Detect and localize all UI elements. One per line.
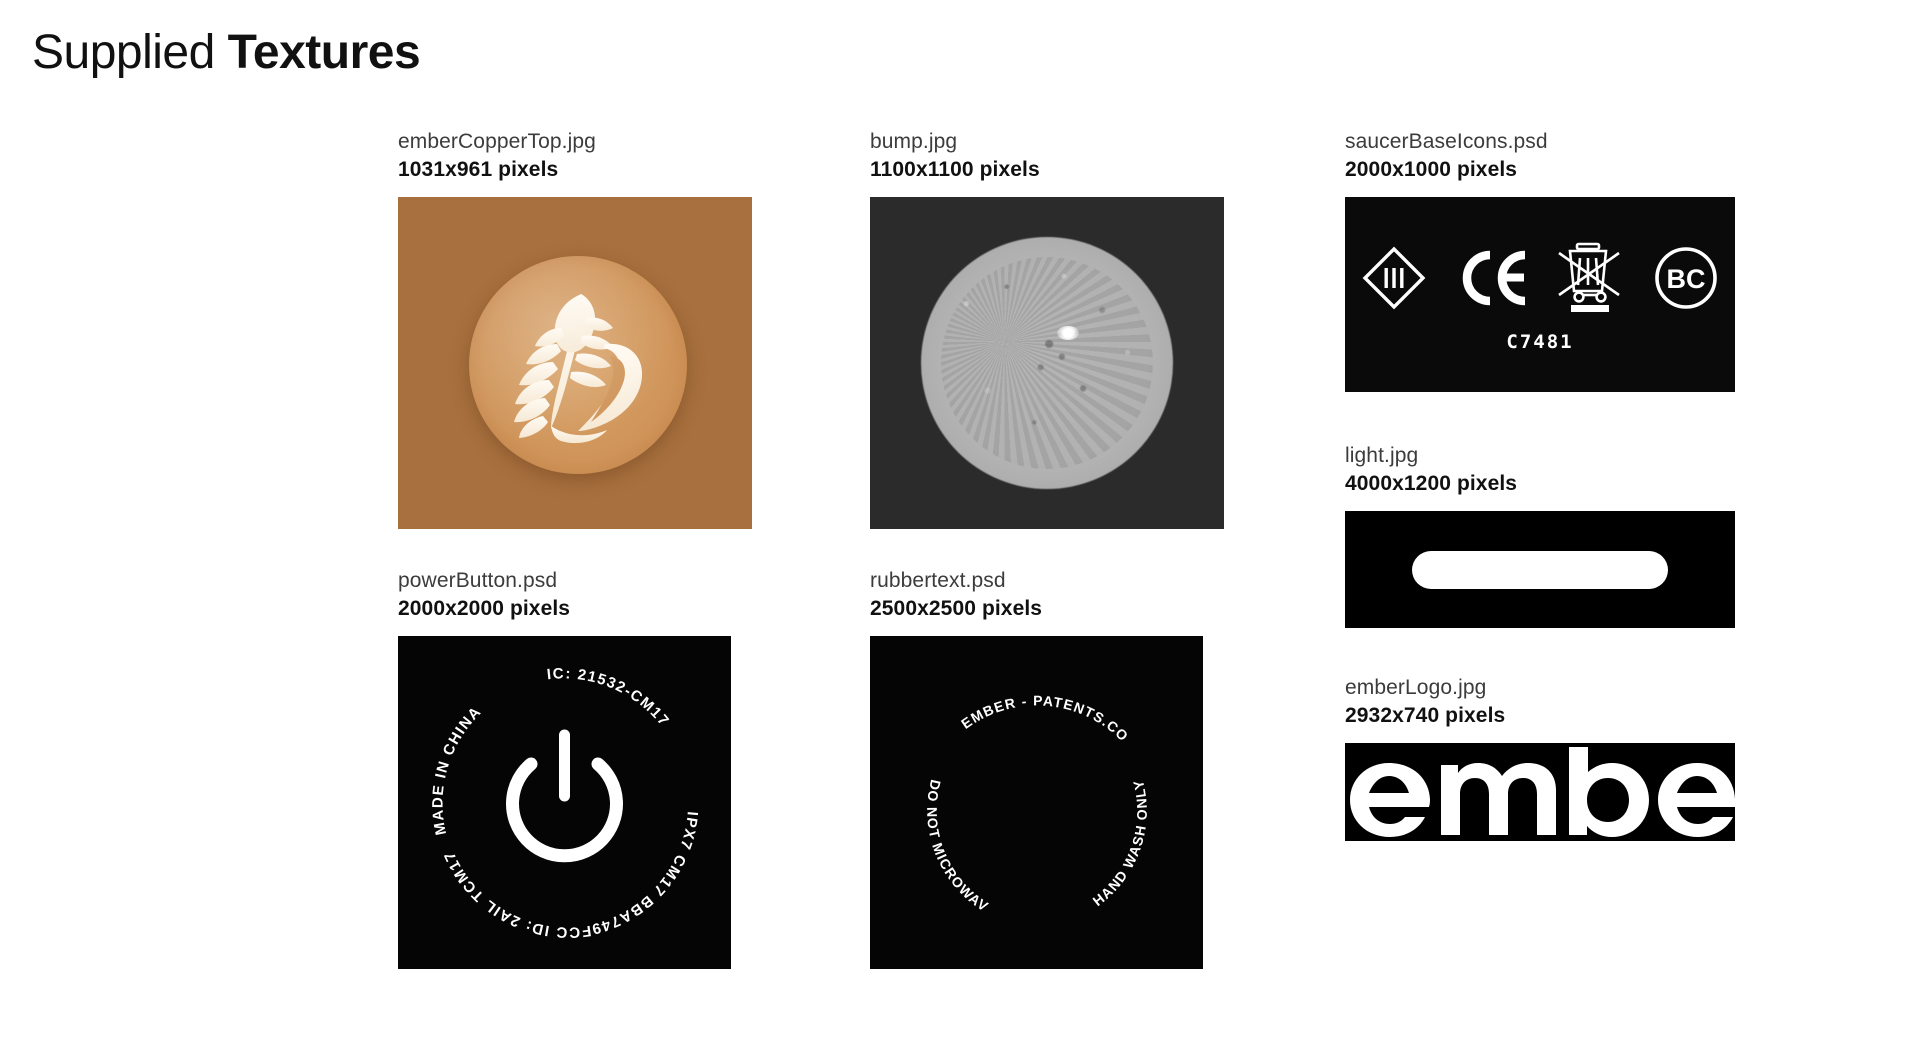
texture-card-bump[interactable]: bump.jpg 1100x1100 pixels [870, 128, 1250, 529]
texture-dimensions: 2000x1000 pixels [1345, 156, 1745, 184]
texture-thumbnail-emberlogo[interactable] [1345, 743, 1735, 841]
page-title-bold: Textures [228, 26, 421, 79]
texture-dimensions: 1100x1100 pixels [870, 156, 1250, 184]
saucer-code-text: C7481 [1345, 331, 1735, 353]
power-button-texture: MADE IN CHINA IC: 21532-CM17 IPX7 CM17 B… [398, 636, 731, 969]
power-curved-text-made-in-china: MADE IN CHINA [429, 703, 485, 837]
rubber-curved-text-microwave: DO NOT MICROWAVE [870, 636, 992, 915]
spacer [398, 529, 778, 567]
texture-filename: emberCopperTop.jpg [398, 128, 778, 156]
page-title-light: Supplied [32, 26, 228, 79]
texture-thumbnail-bump[interactable] [870, 197, 1224, 529]
rubber-text-texture: EMBER - PATENTS.COM DO NOT MICROWAVE HAN… [870, 636, 1203, 969]
weee-crossed-bin-icon [1557, 239, 1623, 317]
texture-thumbnail-embercoppertop[interactable] [398, 197, 752, 529]
power-curved-text-ic: IC: 21532-CM17 [546, 665, 673, 730]
texture-filename: light.jpg [1345, 442, 1745, 470]
texture-card-embercoppertop[interactable]: emberCopperTop.jpg 1031x961 pixels [398, 128, 778, 529]
texture-card-powerbutton[interactable]: powerButton.psd 2000x2000 pixels MADE IN… [398, 567, 778, 969]
texture-dimensions: 2932x740 pixels [1345, 702, 1745, 730]
texture-dimensions: 4000x1200 pixels [1345, 470, 1745, 498]
texture-filename: emberLogo.jpg [1345, 674, 1745, 702]
bump-noise [941, 257, 1153, 469]
texture-thumbnail-saucerbaseicons[interactable]: BC C7481 [1345, 197, 1735, 392]
spacer [1345, 392, 1745, 442]
texture-column-left: emberCopperTop.jpg 1031x961 pixels [398, 128, 778, 969]
texture-filename: saucerBaseIcons.psd [1345, 128, 1745, 156]
power-icon [513, 735, 617, 856]
texture-thumbnail-rubbertext[interactable]: EMBER - PATENTS.COM DO NOT MICROWAVE HAN… [870, 636, 1203, 969]
supplied-textures-page: Supplied Textures emberCopperTop.jpg 103… [0, 0, 1920, 1038]
texture-thumbnail-powerbutton[interactable]: MADE IN CHINA IC: 21532-CM17 IPX7 CM17 B… [398, 636, 731, 969]
svg-text:BC: BC [1667, 264, 1706, 294]
texture-card-emberlogo[interactable]: emberLogo.jpg 2932x740 pixels [1345, 674, 1745, 841]
rubber-curved-text-handwash: HAND WASH ONLY [1090, 778, 1150, 910]
page-title: Supplied Textures [32, 24, 420, 82]
texture-thumbnail-light[interactable] [1345, 511, 1735, 628]
ember-wordmark-logo [1345, 743, 1735, 841]
rubber-curved-text-patents: EMBER - PATENTS.COM [870, 636, 1132, 745]
texture-column-right: saucerBaseIcons.psd 2000x1000 pixels [1345, 128, 1745, 841]
texture-filename: rubbertext.psd [870, 567, 1250, 595]
bc-circle-icon: BC [1651, 243, 1721, 313]
texture-dimensions: 1031x961 pixels [398, 156, 778, 184]
texture-dimensions: 2500x2500 pixels [870, 595, 1250, 623]
latte-art-rosetta-icon [469, 256, 687, 474]
spacer [1345, 628, 1745, 674]
texture-filename: powerButton.psd [398, 567, 778, 595]
light-pill-shape [1412, 551, 1668, 589]
ce-mark-icon [1457, 247, 1529, 309]
texture-card-rubbertext[interactable]: rubbertext.psd 2500x2500 pixels EMBER - … [870, 567, 1250, 969]
texture-column-middle: bump.jpg 1100x1100 pixels rubbertext.psd… [870, 128, 1250, 969]
texture-filename: bump.jpg [870, 128, 1250, 156]
saucer-icon-row: BC [1345, 239, 1735, 317]
class-iii-diamond-icon [1359, 243, 1429, 313]
latte-cup [469, 256, 687, 474]
spacer [870, 529, 1250, 567]
texture-card-light[interactable]: light.jpg 4000x1200 pixels [1345, 442, 1745, 628]
texture-card-saucerbaseicons[interactable]: saucerBaseIcons.psd 2000x1000 pixels [1345, 128, 1745, 392]
texture-dimensions: 2000x2000 pixels [398, 595, 778, 623]
